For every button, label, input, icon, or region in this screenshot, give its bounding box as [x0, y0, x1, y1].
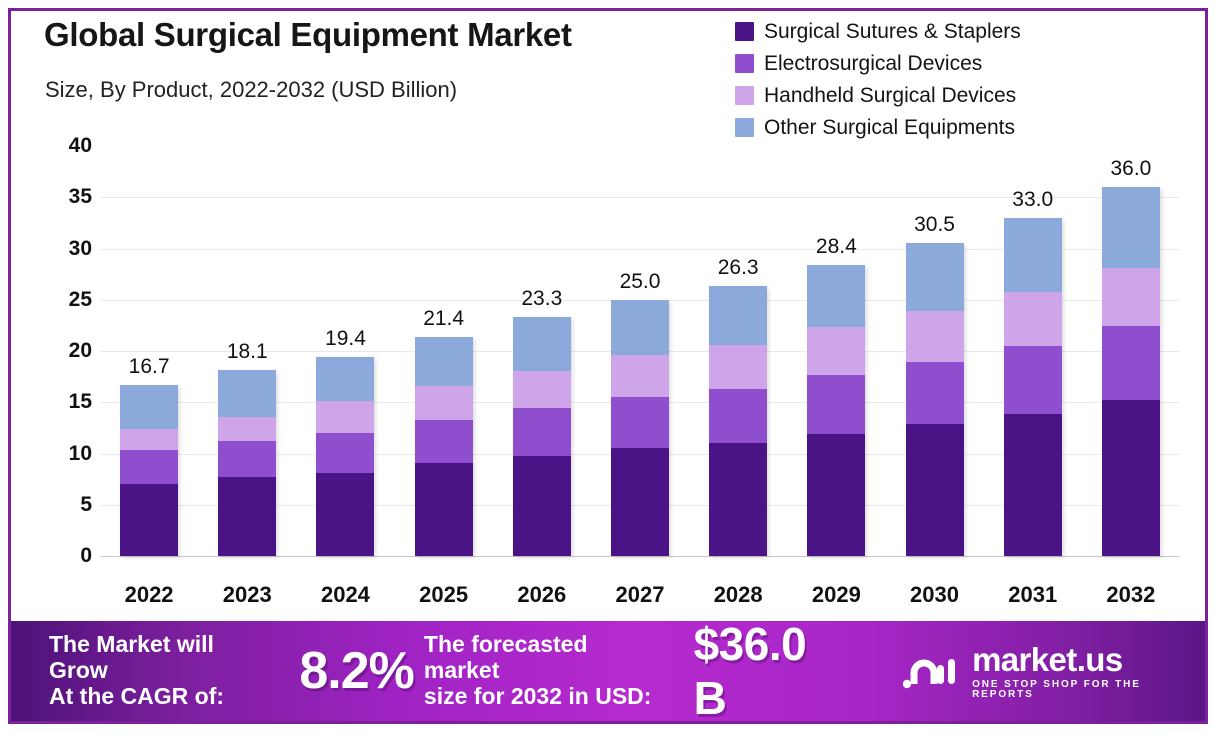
bar-segment[interactable]: [1102, 187, 1160, 268]
bar-column[interactable]: 28.4: [807, 265, 865, 556]
x-axis-tick-label: 2032: [1106, 582, 1155, 608]
x-axis-tick-label: 2031: [1008, 582, 1057, 608]
chart-legend: Surgical Sutures & StaplersElectrosurgic…: [735, 19, 1021, 139]
bar-value-label: 36.0: [1110, 157, 1151, 181]
x-axis-tick-label: 2022: [125, 582, 174, 608]
legend-item[interactable]: Surgical Sutures & Staplers: [735, 19, 1021, 43]
bar-segment[interactable]: [316, 357, 374, 401]
y-axis-tick-label: 10: [69, 442, 92, 466]
legend-swatch-icon: [735, 22, 754, 41]
legend-item-label: Handheld Surgical Devices: [764, 85, 1016, 106]
market-us-logo[interactable]: market.us ONE STOP SHOP FOR THE REPORTS: [902, 643, 1205, 700]
bar-segment[interactable]: [709, 443, 767, 556]
bar-column[interactable]: 36.0: [1102, 187, 1160, 556]
bar-segment[interactable]: [611, 448, 669, 556]
x-axis-tick-label: 2023: [223, 582, 272, 608]
bar-value-label: 25.0: [620, 270, 661, 294]
x-axis-tick-label: 2027: [616, 582, 665, 608]
bar-segment[interactable]: [120, 484, 178, 556]
legend-item[interactable]: Electrosurgical Devices: [735, 51, 1021, 75]
bar-segment[interactable]: [709, 389, 767, 443]
bar-value-label: 19.4: [325, 327, 366, 351]
bar-segment[interactable]: [807, 375, 865, 434]
bar-segment[interactable]: [218, 477, 276, 556]
x-axis-tick-label: 2026: [517, 582, 566, 608]
bar-column[interactable]: 16.7: [120, 385, 178, 556]
bar-group: 16.718.119.421.423.325.026.328.430.533.0…: [100, 130, 1180, 570]
bar-segment[interactable]: [611, 397, 669, 448]
bar-segment[interactable]: [1004, 218, 1062, 292]
bar-segment[interactable]: [611, 300, 669, 355]
bar-segment[interactable]: [513, 408, 571, 455]
logo-name: market.us: [972, 643, 1205, 676]
bar-segment[interactable]: [120, 450, 178, 484]
bar-segment[interactable]: [906, 424, 964, 556]
bar-segment[interactable]: [709, 286, 767, 344]
market-us-logo-icon: [902, 651, 960, 691]
cagr-label: The Market will Grow At the CAGR of:: [49, 632, 277, 709]
bar-segment[interactable]: [906, 243, 964, 311]
bar-segment[interactable]: [1004, 414, 1062, 556]
stacked-bar[interactable]: 21.4: [415, 337, 473, 556]
bar-segment[interactable]: [611, 355, 669, 397]
legend-item[interactable]: Handheld Surgical Devices: [735, 83, 1021, 107]
legend-item-label: Surgical Sutures & Staplers: [764, 21, 1021, 42]
x-axis-tick-label: 2025: [419, 582, 468, 608]
bar-segment[interactable]: [807, 327, 865, 374]
bar-segment[interactable]: [415, 386, 473, 420]
plot-area: 4035302520151050 16.718.119.421.423.325.…: [40, 130, 1180, 570]
bar-column[interactable]: 33.0: [1004, 218, 1062, 556]
stacked-bar[interactable]: 28.4: [807, 265, 865, 556]
x-axis-tick-label: 2029: [812, 582, 861, 608]
bar-value-label: 21.4: [423, 307, 464, 331]
bar-column[interactable]: 19.4: [316, 357, 374, 556]
bar-segment[interactable]: [415, 337, 473, 386]
forecast-size-label: The forecasted market size for 2032 in U…: [424, 632, 668, 709]
stacked-bar[interactable]: 30.5: [906, 243, 964, 556]
chart-infographic: Global Surgical Equipment Market Size, B…: [0, 0, 1216, 732]
bar-value-label: 28.4: [816, 235, 857, 259]
bar-segment[interactable]: [1102, 326, 1160, 400]
legend-swatch-icon: [735, 86, 754, 105]
bar-segment[interactable]: [1102, 400, 1160, 556]
y-axis-tick-label: 0: [80, 544, 92, 568]
page-title: Global Surgical Equipment Market: [44, 16, 572, 54]
bar-column[interactable]: 25.0: [611, 300, 669, 556]
y-axis-tick-label: 5: [80, 493, 92, 517]
bar-segment[interactable]: [807, 434, 865, 556]
stacked-bar[interactable]: 18.1: [218, 370, 276, 556]
y-axis: 4035302520151050: [40, 130, 92, 570]
stacked-bar[interactable]: 33.0: [1004, 218, 1062, 556]
chart-subtitle: Size, By Product, 2022-2032 (USD Billion…: [45, 77, 457, 103]
bar-value-label: 30.5: [914, 213, 955, 237]
bar-segment[interactable]: [1102, 268, 1160, 326]
x-axis-tick-label: 2024: [321, 582, 370, 608]
bar-value-label: 16.7: [129, 355, 170, 379]
bar-segment[interactable]: [1004, 346, 1062, 414]
bar-segment[interactable]: [1004, 292, 1062, 346]
forecast-size-value: $36.0 B: [694, 621, 850, 721]
bar-segment[interactable]: [218, 417, 276, 442]
bar-value-label: 23.3: [521, 287, 562, 311]
stacked-bar[interactable]: 16.7: [120, 385, 178, 556]
bar-segment[interactable]: [906, 362, 964, 424]
bar-column[interactable]: 30.5: [906, 243, 964, 556]
bar-column[interactable]: 26.3: [709, 286, 767, 556]
x-axis-tick-label: 2028: [714, 582, 763, 608]
bar-value-label: 26.3: [718, 256, 759, 280]
bar-segment[interactable]: [709, 345, 767, 389]
bar-segment[interactable]: [415, 463, 473, 556]
y-axis-tick-label: 25: [69, 288, 92, 312]
y-axis-tick-label: 40: [69, 134, 92, 158]
bar-segment[interactable]: [120, 429, 178, 451]
stacked-bar[interactable]: 23.3: [513, 317, 571, 556]
bar-segment[interactable]: [807, 265, 865, 328]
bar-column[interactable]: 18.1: [218, 370, 276, 556]
bar-segment[interactable]: [513, 317, 571, 370]
x-axis-tick-label: 2030: [910, 582, 959, 608]
bar-segment[interactable]: [316, 473, 374, 556]
stacked-bar[interactable]: 25.0: [611, 300, 669, 556]
cagr-value: 8.2%: [299, 641, 414, 701]
bottom-banner: The Market will Grow At the CAGR of: 8.2…: [11, 621, 1205, 721]
y-axis-tick-label: 35: [69, 185, 92, 209]
y-axis-tick-label: 30: [69, 237, 92, 261]
stacked-bar[interactable]: 26.3: [709, 286, 767, 556]
bar-segment[interactable]: [120, 385, 178, 429]
bar-column[interactable]: 23.3: [513, 317, 571, 556]
bar-segment[interactable]: [316, 401, 374, 433]
stacked-bar[interactable]: 36.0: [1102, 187, 1160, 556]
bar-column[interactable]: 21.4: [415, 337, 473, 556]
logo-tagline: ONE STOP SHOP FOR THE REPORTS: [972, 680, 1205, 700]
bar-segment[interactable]: [316, 433, 374, 473]
bar-value-label: 33.0: [1012, 188, 1053, 212]
bar-segment[interactable]: [906, 311, 964, 362]
y-axis-tick-label: 15: [69, 390, 92, 414]
legend-item-label: Electrosurgical Devices: [764, 53, 982, 74]
bar-segment[interactable]: [513, 456, 571, 556]
bar-segment[interactable]: [415, 420, 473, 463]
legend-swatch-icon: [735, 54, 754, 73]
bar-segment[interactable]: [218, 441, 276, 477]
bar-segment[interactable]: [513, 371, 571, 409]
stacked-bar[interactable]: 19.4: [316, 357, 374, 556]
y-axis-tick-label: 20: [69, 339, 92, 363]
bar-value-label: 18.1: [227, 340, 268, 364]
bar-segment[interactable]: [218, 370, 276, 416]
